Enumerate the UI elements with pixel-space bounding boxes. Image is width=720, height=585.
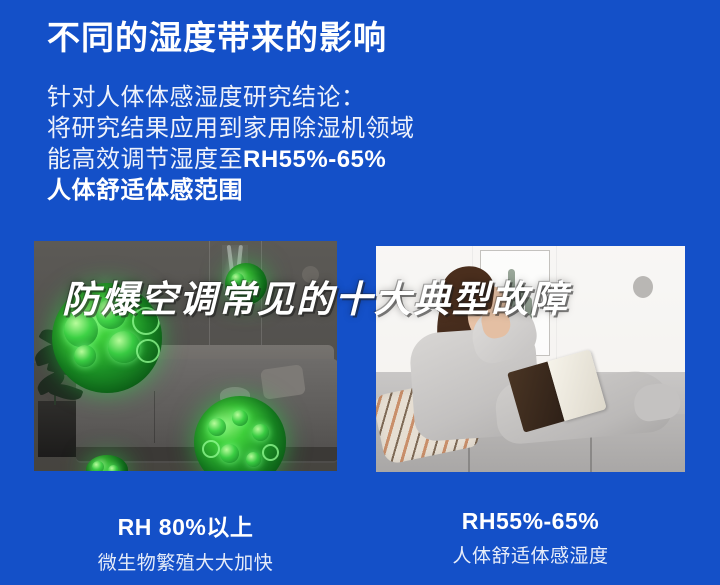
page-title: 不同的湿度带来的影响 xyxy=(47,18,387,58)
caption-right-subtitle: 人体舒适体感湿度 xyxy=(376,541,685,568)
wall-knob-decor xyxy=(302,266,319,283)
poster-root: 不同的湿度带来的影响 针对人体体感湿度研究结论： 将研究结果应用到家用除湿机领域… xyxy=(0,0,720,585)
microbe-cluster-icon xyxy=(52,283,162,393)
caption-right: RH55%-65% 人体舒适体感湿度 xyxy=(376,508,685,568)
body-line-3-highlight: RH55%-65% xyxy=(243,146,386,173)
woman-reading-figure xyxy=(376,246,685,472)
sofa-cushion xyxy=(260,364,306,400)
microbe-cluster-icon xyxy=(225,263,267,305)
caption-left: RH 80%以上 微生物繁殖大大加快 xyxy=(34,508,337,575)
body-line-3-plain: 能高效调节湿度至 xyxy=(47,146,243,173)
sofa-seam xyxy=(154,391,155,443)
caption-left-title: RH 80%以上 xyxy=(34,508,337,542)
dark-room-scene xyxy=(34,241,337,471)
body-line-3: 能高效调节湿度至RH55%-65% xyxy=(47,144,467,175)
light-room-scene xyxy=(376,246,685,472)
body-line-2: 将研究结果应用到家用除湿机领域 xyxy=(47,113,467,144)
photo-right-comfort-humidity xyxy=(376,246,685,472)
body-line-1: 针对人体体感湿度研究结论： xyxy=(47,82,467,113)
caption-left-subtitle: 微生物繁殖大大加快 xyxy=(34,548,337,575)
caption-right-title: RH55%-65% xyxy=(376,508,685,535)
photo-left-high-humidity xyxy=(34,241,337,471)
plant-pot xyxy=(38,401,76,457)
body-line-4: 人体舒适体感范围 xyxy=(47,175,467,206)
body-copy: 针对人体体感湿度研究结论： 将研究结果应用到家用除湿机领域 能高效调节湿度至RH… xyxy=(47,82,467,206)
